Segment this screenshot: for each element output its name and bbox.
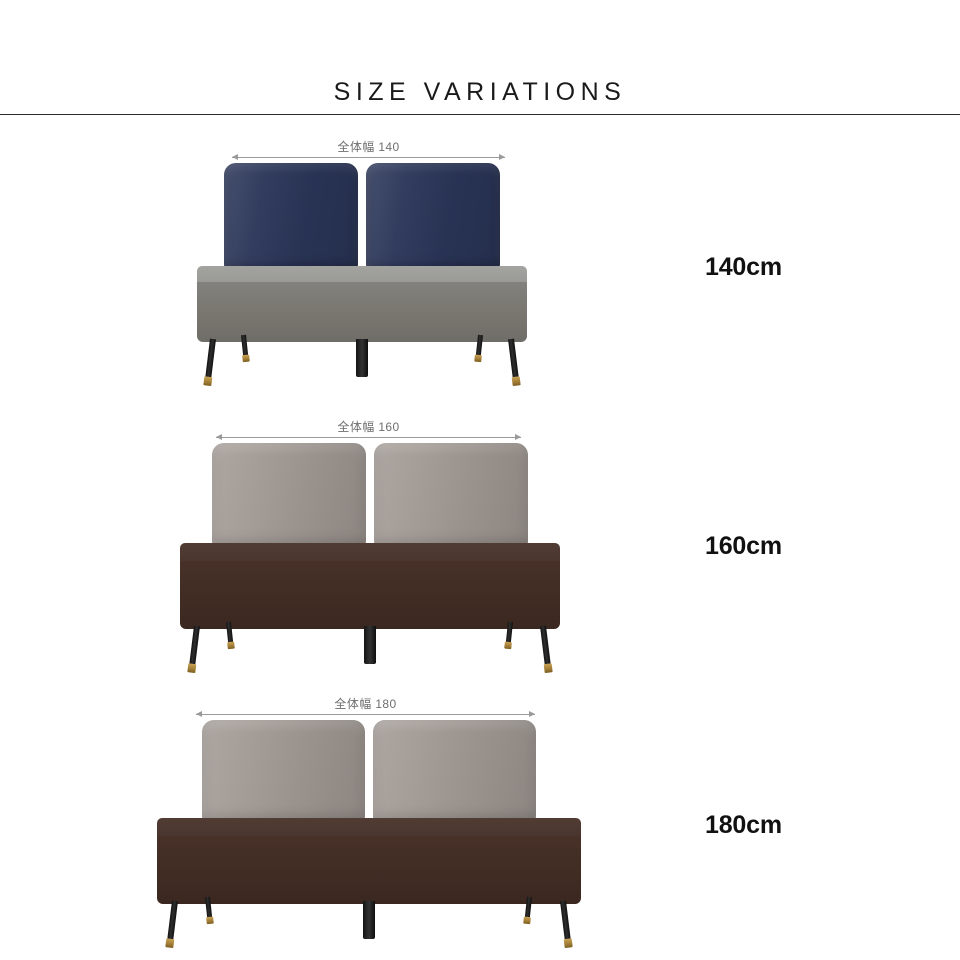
leg-foot-icon [206,917,214,925]
leg-front-right [560,901,572,947]
dimension-line [232,157,505,158]
leg-foot-icon [165,938,174,948]
seat-base [180,543,560,629]
seat-top-surface [180,543,560,561]
size-variation-row-180: 全体幅 180 180cm [0,688,960,960]
back-cushion-right [366,163,500,271]
leg-front-right [508,339,520,385]
leg-foot-icon [512,376,521,386]
sofa-image-140 [197,163,527,378]
sofa-image-160 [180,443,560,671]
size-label-160: 160cm [705,532,782,561]
dimension-line [196,714,535,715]
leg-foot-icon [187,663,196,673]
leg-front-right [540,626,552,672]
sofa-image-180 [157,720,581,948]
leg-front-left [188,626,200,672]
leg-center-support [364,626,376,664]
seat-base [157,818,581,904]
seat-top-surface [197,266,527,282]
seat-base [197,266,527,342]
leg-center-support [363,901,375,939]
dimension-label: 全体幅 160 [216,418,521,435]
header-divider [0,114,960,115]
arrowhead-right-icon [529,711,535,717]
leg-front-left [204,339,216,385]
leg-foot-icon [504,642,512,650]
seat-front-face [197,282,527,342]
page-title: SIZE VARIATIONS [0,78,960,107]
leg-foot-icon [242,355,250,363]
seat-front-face [157,836,581,904]
arrowhead-right-icon [499,154,505,160]
dimension-line [216,437,521,438]
leg-foot-icon [227,642,235,650]
size-label-140: 140cm [705,253,782,282]
leg-foot-icon [544,663,553,673]
arrowhead-left-icon [216,434,222,440]
leg-front-left [166,901,178,947]
leg-foot-icon [203,376,212,386]
leg-foot-icon [564,938,573,948]
cushion-group [180,443,560,548]
back-cushion-left [202,720,365,823]
size-variation-row-140: 全体幅 140 140cm [0,130,960,405]
size-label-180: 180cm [705,811,782,840]
seat-top-surface [157,818,581,836]
size-variation-row-160: 全体幅 160 160cm [0,410,960,685]
leg-foot-icon [474,355,482,363]
cushion-group [157,720,581,823]
leg-foot-icon [523,917,531,925]
dimension-label: 全体幅 180 [196,695,535,712]
arrowhead-left-icon [232,154,238,160]
back-cushion-left [212,443,366,548]
back-cushion-right [374,443,528,548]
leg-center-support [356,339,368,377]
cushion-group [197,163,527,271]
leg-shaft [364,626,376,664]
dimension-label: 全体幅 140 [232,138,505,155]
seat-front-face [180,561,560,629]
leg-shaft [363,901,375,939]
arrowhead-right-icon [515,434,521,440]
back-cushion-right [373,720,536,823]
arrowhead-left-icon [196,711,202,717]
back-cushion-left [224,163,358,271]
leg-shaft [356,339,368,377]
